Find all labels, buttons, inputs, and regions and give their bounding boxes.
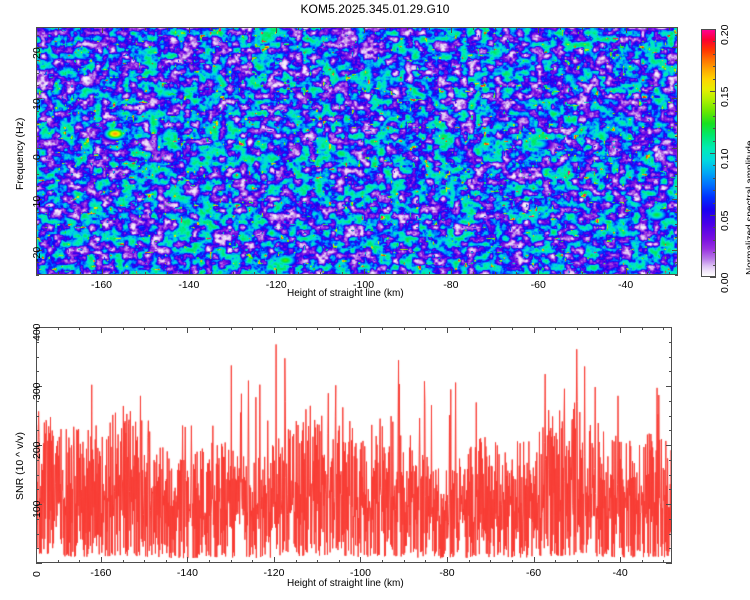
axis-tick <box>385 272 386 275</box>
colorbar-title: Normalized spectral amplitude <box>745 140 750 275</box>
axis-tick <box>577 560 578 563</box>
axis-tick <box>317 327 318 330</box>
axis-tick <box>429 27 430 30</box>
axis-tick <box>404 327 405 330</box>
axis-tick <box>538 27 539 33</box>
axis-tick <box>254 272 255 275</box>
axis-tick <box>495 272 496 275</box>
axis-tick <box>675 224 678 225</box>
axis-tick <box>582 27 583 30</box>
axis-tick <box>404 560 405 563</box>
axis-tick <box>36 342 39 343</box>
axis-tick <box>555 327 556 330</box>
axis-tick <box>36 174 39 175</box>
axis-tick <box>710 153 716 154</box>
axis-tick <box>101 557 102 563</box>
axis-tick <box>233 27 234 30</box>
axis-tick <box>560 27 561 30</box>
axis-tick <box>675 237 678 238</box>
axis-tick <box>675 174 678 175</box>
axis-tick <box>713 66 716 67</box>
axis-tick <box>36 73 39 74</box>
axis-tick <box>276 27 277 33</box>
axis-tick <box>36 430 39 431</box>
snr-y-axis-title: SNR (10 ^ v/v) <box>14 432 26 500</box>
axis-tick <box>669 272 670 275</box>
axis-tick <box>211 272 212 275</box>
snr-plot-area <box>36 327 672 563</box>
spectrogram-y-tick-label: -10 <box>31 196 43 211</box>
axis-tick <box>713 178 716 179</box>
axis-tick <box>425 327 426 330</box>
axis-tick <box>675 161 678 162</box>
axis-tick <box>254 27 255 30</box>
axis-tick <box>713 252 716 253</box>
axis-tick <box>364 269 365 275</box>
axis-tick <box>473 272 474 275</box>
axis-tick <box>166 560 167 563</box>
axis-tick <box>666 445 672 446</box>
axis-tick <box>675 60 678 61</box>
spectrogram-x-tick-label: -120 <box>264 279 288 291</box>
axis-tick <box>642 327 643 330</box>
axis-tick <box>274 327 275 333</box>
axis-tick <box>713 116 716 117</box>
axis-tick <box>713 103 716 104</box>
axis-tick <box>36 111 39 112</box>
axis-tick <box>209 560 210 563</box>
spectrogram-image <box>36 27 678 275</box>
spectrogram-x-tick-label: -40 <box>614 279 638 291</box>
axis-tick <box>80 27 81 30</box>
axis-tick <box>604 27 605 30</box>
axis-tick <box>669 27 670 30</box>
colorbar-tick-label: 0.10 <box>719 149 731 169</box>
axis-tick <box>252 327 253 330</box>
axis-tick <box>675 275 678 276</box>
axis-tick <box>36 136 39 137</box>
axis-tick <box>36 212 39 213</box>
snr-y-tick-label: 0 <box>31 571 43 577</box>
colorbar-tick-label: 0.15 <box>719 87 731 107</box>
axis-tick <box>713 54 716 55</box>
axis-tick <box>298 272 299 275</box>
axis-tick <box>36 148 42 149</box>
axis-tick <box>473 27 474 30</box>
axis-tick <box>80 272 81 275</box>
colorbar-tick-label: 0.05 <box>719 211 731 231</box>
axis-tick <box>666 504 672 505</box>
axis-tick <box>320 27 321 30</box>
axis-tick <box>298 27 299 30</box>
axis-tick <box>710 91 716 92</box>
axis-tick <box>167 27 168 30</box>
axis-tick <box>534 557 535 563</box>
axis-tick <box>672 47 678 48</box>
axis-tick <box>339 327 340 330</box>
axis-tick <box>675 85 678 86</box>
axis-tick <box>512 560 513 563</box>
axis-tick <box>36 357 39 358</box>
axis-tick <box>713 203 716 204</box>
axis-tick <box>713 240 716 241</box>
axis-tick <box>36 475 39 476</box>
axis-tick <box>231 327 232 330</box>
axis-tick <box>36 262 39 263</box>
axis-tick <box>382 327 383 330</box>
axis-tick <box>672 199 678 200</box>
axis-tick <box>407 272 408 275</box>
snr-x-tick-label: -60 <box>522 567 546 579</box>
snr-y-tick-label: 300 <box>31 382 43 400</box>
axis-tick <box>666 563 672 564</box>
axis-tick <box>36 161 39 162</box>
axis-tick <box>512 327 513 330</box>
axis-tick <box>647 27 648 30</box>
axis-tick <box>276 269 277 275</box>
axis-tick <box>666 386 672 387</box>
axis-tick <box>620 327 621 333</box>
snr-x-tick-label: -160 <box>89 567 113 579</box>
snr-y-tick-label: 200 <box>31 441 43 459</box>
axis-tick <box>555 560 556 563</box>
axis-tick <box>187 327 188 333</box>
axis-tick <box>360 557 361 563</box>
axis-tick <box>342 27 343 30</box>
axis-tick <box>102 27 103 33</box>
axis-tick <box>560 272 561 275</box>
snr-trace <box>36 327 672 563</box>
axis-tick <box>36 224 39 225</box>
axis-tick <box>663 327 664 330</box>
axis-tick <box>675 136 678 137</box>
axis-tick <box>669 371 672 372</box>
axis-tick <box>36 35 39 36</box>
axis-tick <box>36 519 39 520</box>
axis-tick <box>582 272 583 275</box>
axis-tick <box>58 272 59 275</box>
axis-tick <box>669 489 672 490</box>
axis-tick <box>713 190 716 191</box>
axis-tick <box>123 27 124 30</box>
axis-tick <box>58 560 59 563</box>
axis-tick <box>604 272 605 275</box>
axis-tick <box>451 269 452 275</box>
axis-tick <box>296 327 297 330</box>
spectrogram-x-axis-title: Height of straight line (km) <box>287 288 404 299</box>
axis-tick <box>626 27 627 33</box>
spectrogram-y-tick-label: 0 <box>31 155 43 161</box>
axis-tick <box>672 98 678 99</box>
axis-tick <box>36 548 39 549</box>
axis-tick <box>669 401 672 402</box>
axis-tick <box>669 342 672 343</box>
snr-x-tick-label: -120 <box>262 567 286 579</box>
axis-tick <box>123 327 124 330</box>
axis-tick <box>469 327 470 330</box>
axis-tick <box>101 327 102 333</box>
axis-tick <box>36 401 39 402</box>
axis-tick <box>669 460 672 461</box>
axis-tick <box>598 560 599 563</box>
axis-tick <box>231 560 232 563</box>
axis-tick <box>626 269 627 275</box>
axis-tick <box>123 560 124 563</box>
axis-tick <box>534 327 535 333</box>
axis-tick <box>713 141 716 142</box>
snr-y-tick-label: 400 <box>31 323 43 341</box>
axis-tick <box>36 186 39 187</box>
axis-tick <box>516 272 517 275</box>
axis-tick <box>425 560 426 563</box>
axis-tick <box>123 272 124 275</box>
axis-tick <box>647 272 648 275</box>
axis-tick <box>102 269 103 275</box>
axis-tick <box>385 27 386 30</box>
colorbar-tick-label: 0.20 <box>719 25 731 45</box>
axis-tick <box>620 557 621 563</box>
axis-tick <box>669 430 672 431</box>
axis-tick <box>144 560 145 563</box>
axis-tick <box>669 357 672 358</box>
axis-tick <box>364 27 365 33</box>
snr-x-axis-title: Height of straight line (km) <box>287 578 404 589</box>
axis-tick <box>274 557 275 563</box>
axis-tick <box>669 548 672 549</box>
axis-tick <box>36 534 39 535</box>
axis-tick <box>382 560 383 563</box>
axis-tick <box>145 272 146 275</box>
axis-tick <box>189 27 190 33</box>
axis-tick <box>36 563 42 564</box>
axis-tick <box>36 460 39 461</box>
axis-tick <box>317 560 318 563</box>
colorbar-tick-label: 0.00 <box>719 273 731 293</box>
axis-tick <box>58 27 59 30</box>
axis-tick <box>710 277 716 278</box>
axis-tick <box>79 327 80 330</box>
axis-tick <box>339 560 340 563</box>
axis-tick <box>675 186 678 187</box>
axis-tick <box>36 489 39 490</box>
axis-tick <box>516 27 517 30</box>
spectrogram-y-tick-label: 20 <box>31 48 43 60</box>
spectrogram-x-tick-label: -140 <box>177 279 201 291</box>
axis-tick <box>469 560 470 563</box>
axis-tick <box>342 272 343 275</box>
axis-tick <box>320 272 321 275</box>
spectrogram-x-tick-label: -60 <box>526 279 550 291</box>
axis-tick <box>490 560 491 563</box>
axis-tick <box>675 123 678 124</box>
axis-tick <box>675 73 678 74</box>
snr-x-tick-label: -140 <box>175 567 199 579</box>
axis-tick <box>713 227 716 228</box>
axis-tick <box>447 557 448 563</box>
axis-tick <box>447 327 448 333</box>
axis-tick <box>167 272 168 275</box>
axis-tick <box>713 265 716 266</box>
axis-tick <box>211 27 212 30</box>
axis-tick <box>675 212 678 213</box>
axis-tick <box>189 269 190 275</box>
axis-tick <box>407 27 408 30</box>
axis-tick <box>675 111 678 112</box>
axis-tick <box>429 272 430 275</box>
axis-tick <box>36 27 37 30</box>
spectrogram-y-axis-title: Frequency (Hz) <box>14 118 26 190</box>
spectrogram-x-tick-label: -160 <box>90 279 114 291</box>
axis-tick <box>577 327 578 330</box>
axis-tick <box>710 215 716 216</box>
axis-tick <box>79 560 80 563</box>
axis-tick <box>713 41 716 42</box>
axis-tick <box>36 85 39 86</box>
axis-tick <box>451 27 452 33</box>
axis-tick <box>666 327 672 328</box>
axis-tick <box>490 327 491 330</box>
snr-y-tick-label: 100 <box>31 500 43 518</box>
figure-canvas: KOM5.2025.345.01.29.G10 -160-140-120-100… <box>0 0 750 600</box>
axis-tick <box>538 269 539 275</box>
axis-tick <box>209 327 210 330</box>
axis-tick <box>672 250 678 251</box>
axis-tick <box>663 560 664 563</box>
axis-tick <box>144 327 145 330</box>
spectrogram-y-tick-label: 10 <box>31 98 43 110</box>
axis-tick <box>36 275 39 276</box>
axis-tick <box>713 165 716 166</box>
spectrogram-plot-area <box>36 27 678 275</box>
axis-tick <box>36 416 39 417</box>
page-title: KOM5.2025.345.01.29.G10 <box>0 2 750 16</box>
axis-tick <box>145 27 146 30</box>
spectrogram-y-tick-label: -20 <box>31 247 43 262</box>
axis-tick <box>710 29 716 30</box>
axis-tick <box>233 272 234 275</box>
snr-x-tick-label: -80 <box>435 567 459 579</box>
axis-tick <box>675 262 678 263</box>
axis-tick <box>669 416 672 417</box>
axis-tick <box>598 327 599 330</box>
axis-tick <box>669 519 672 520</box>
axis-tick <box>672 148 678 149</box>
axis-tick <box>669 534 672 535</box>
axis-tick <box>166 327 167 330</box>
spectrogram-x-tick-label: -80 <box>439 279 463 291</box>
axis-tick <box>713 128 716 129</box>
axis-tick <box>58 327 59 330</box>
axis-tick <box>360 327 361 333</box>
axis-tick <box>252 560 253 563</box>
axis-tick <box>36 123 39 124</box>
axis-tick <box>713 79 716 80</box>
axis-tick <box>675 35 678 36</box>
axis-tick <box>36 237 39 238</box>
axis-tick <box>642 560 643 563</box>
axis-tick <box>669 475 672 476</box>
axis-tick <box>495 27 496 30</box>
axis-tick <box>296 560 297 563</box>
snr-x-tick-label: -40 <box>608 567 632 579</box>
axis-tick <box>36 60 39 61</box>
axis-tick <box>187 557 188 563</box>
axis-tick <box>36 371 39 372</box>
